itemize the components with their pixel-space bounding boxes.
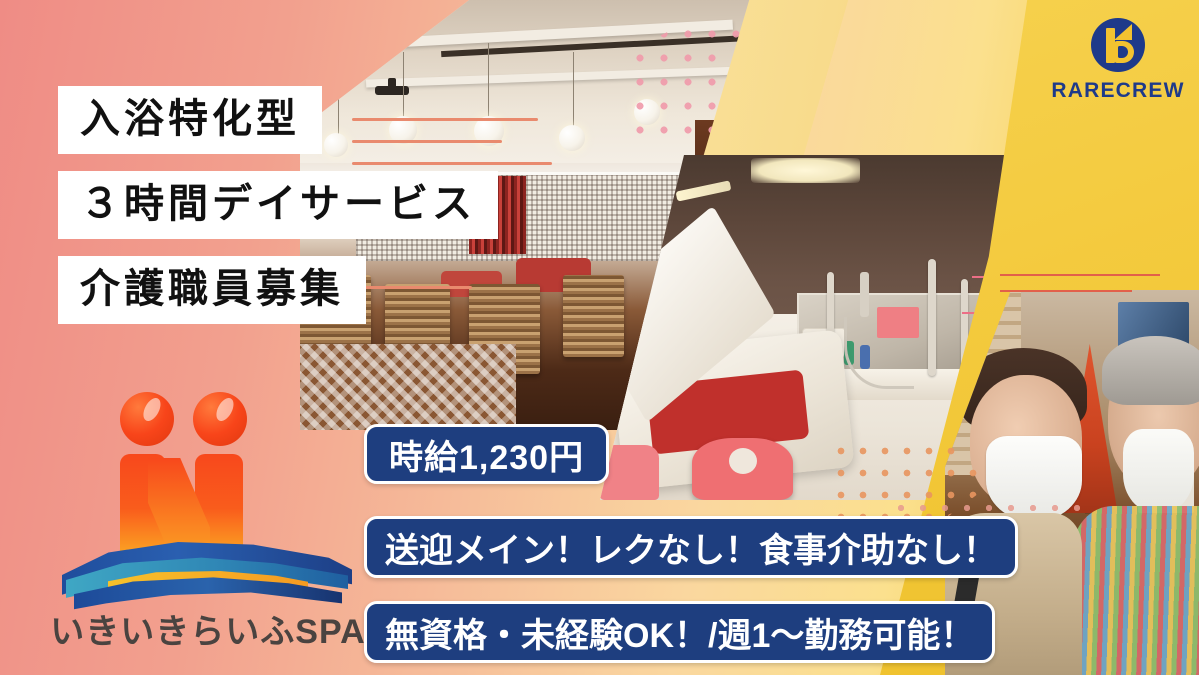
face-mask: [1123, 429, 1194, 514]
badge-qualifications: 無資格・未経験OK！/週1〜勤務可能！: [364, 601, 995, 663]
pendant-wire: [573, 52, 574, 129]
logo-figure-head-left: [120, 392, 174, 446]
rarecrew-glyph-bowl: [1114, 41, 1134, 63]
headline-group: 入浴特化型 ３時間デイサービス 介護職員募集: [58, 86, 498, 341]
pendant-lamp: [559, 125, 585, 151]
wicker-chair: [563, 275, 624, 357]
pink-bath-chair: [692, 438, 793, 500]
elderly-person-hair: [1102, 336, 1199, 405]
coral-line-decoration: [1000, 272, 1199, 312]
headline-line-2: ３時間デイサービス: [58, 171, 498, 239]
logo-wordmark: いきいきらいふSPA: [48, 604, 368, 653]
grab-bar: [928, 259, 936, 376]
ceiling-light: [751, 158, 860, 182]
logo-figure-head-right: [193, 392, 247, 446]
headline-line-3: 介護職員募集: [58, 256, 366, 324]
headline-line-1: 入浴特化型: [58, 86, 322, 154]
badge-job-duties: 送迎メイン！レクなし！食事介助なし！: [364, 516, 1018, 578]
shower-head: [860, 272, 869, 317]
rarecrew-wordmark: RARECREW: [1048, 79, 1188, 103]
pink-dot-strip: [890, 500, 1090, 516]
recruitment-banner: 入浴特化型 ３時間デイサービス 介護職員募集 いきいきらいふSPA 時給1,23…: [0, 0, 1199, 675]
rarecrew-glyph-cut: [1114, 24, 1132, 40]
rarecrew-logo: RARECREW: [1048, 18, 1188, 114]
badge-hourly-wage: 時給1,230円: [364, 424, 609, 484]
rarecrew-mark-icon: [1091, 18, 1145, 72]
ikiiki-life-spa-logo: いきいきらいふSPA: [62, 392, 352, 632]
elderly-person-clothing: [1072, 506, 1199, 675]
